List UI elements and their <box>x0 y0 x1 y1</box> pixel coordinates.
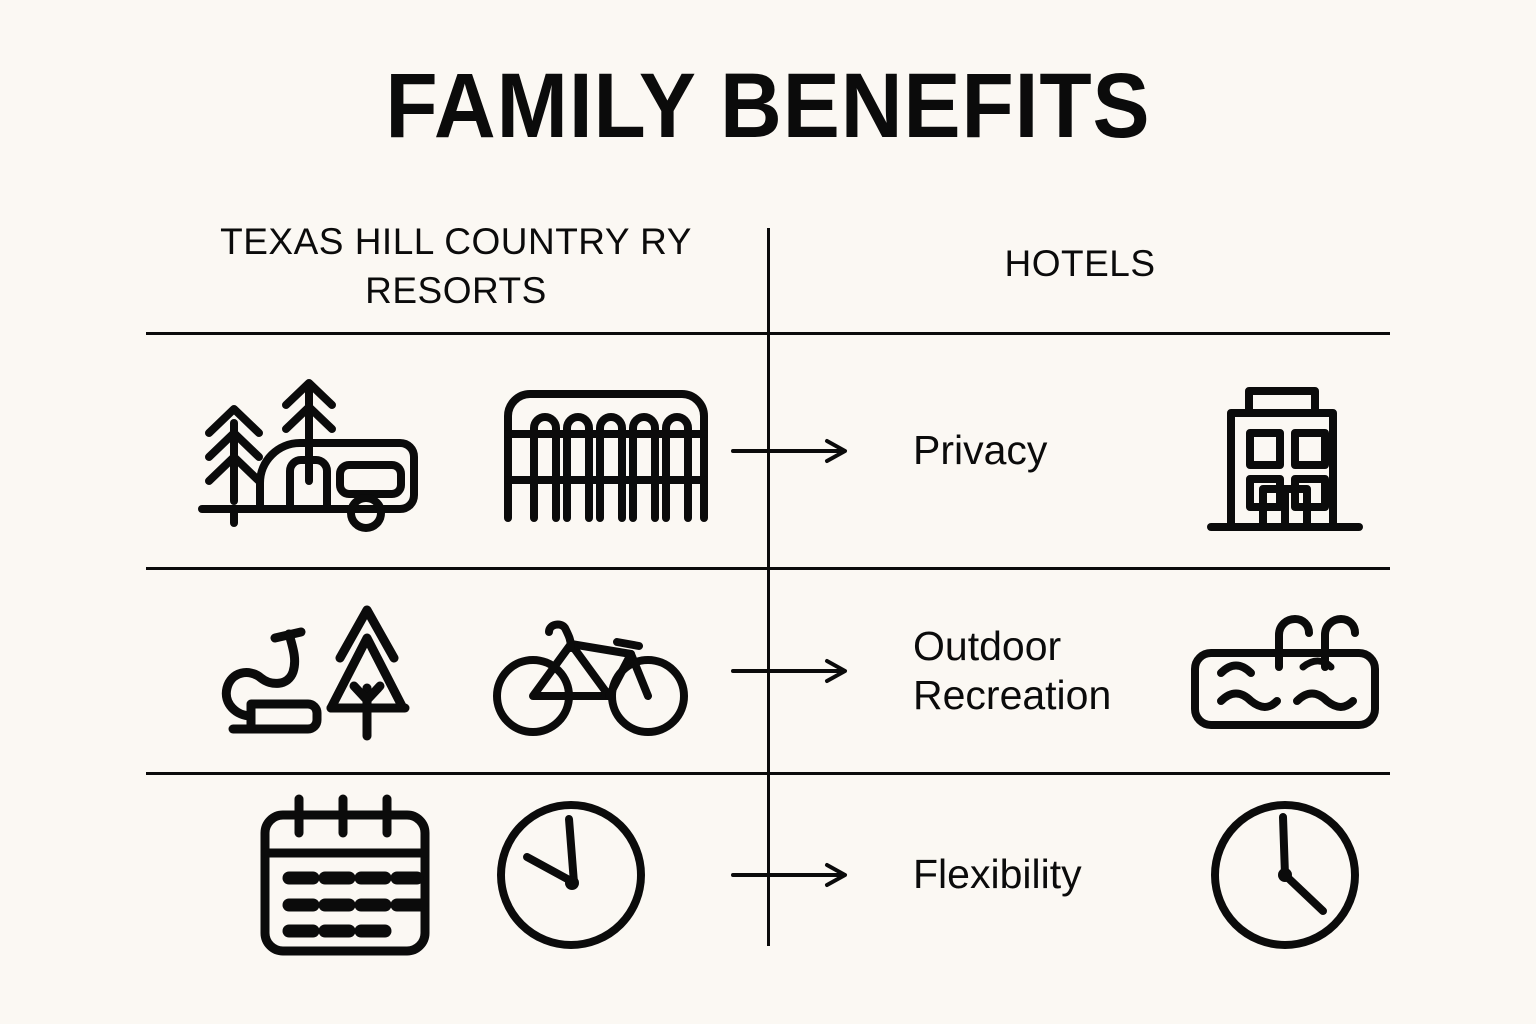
privacy-fence-icon <box>500 376 712 526</box>
left-icons-flexibility <box>146 775 767 975</box>
hotel-building-icon <box>1180 361 1390 541</box>
right-cell-flexibility: Flexibility <box>767 775 1390 975</box>
bicycle-icon <box>491 604 691 739</box>
campsite-pine-tree-icon <box>215 596 435 746</box>
family-benefits-infographic: FAMILY BENEFITS TEXAS HILL COUNTRY RY RE… <box>0 0 1536 1024</box>
calendar-icon <box>255 793 435 958</box>
left-icons-outdoor-recreation <box>146 570 767 772</box>
benefit-label-privacy: Privacy <box>913 426 1180 475</box>
arrow-right-icon <box>729 651 909 691</box>
column-header-right: HOTELS <box>770 240 1390 289</box>
left-icons-privacy <box>146 335 767 567</box>
page-title: FAMILY BENEFITS <box>54 58 1482 156</box>
right-cell-outdoor-recreation: Outdoor Recreation <box>767 570 1390 772</box>
clock-icon <box>1180 795 1390 955</box>
camper-trailer-with-pine-trees-icon <box>194 361 444 541</box>
right-cell-privacy: Privacy <box>767 335 1390 567</box>
benefit-row-outdoor-recreation: Outdoor Recreation <box>146 570 1390 772</box>
benefit-label-outdoor-recreation: Outdoor Recreation <box>913 622 1180 720</box>
column-header-left: TEXAS HILL COUNTRY RY RESORTS <box>146 218 766 316</box>
arrow-right-icon <box>729 855 909 895</box>
arrow-right-icon <box>729 431 909 471</box>
benefit-row-flexibility: Flexibility <box>146 775 1390 975</box>
swimming-pool-icon <box>1180 609 1390 734</box>
benefit-label-flexibility: Flexibility <box>913 850 1180 899</box>
benefit-row-privacy: Privacy <box>146 335 1390 567</box>
clock-icon <box>491 795 651 955</box>
